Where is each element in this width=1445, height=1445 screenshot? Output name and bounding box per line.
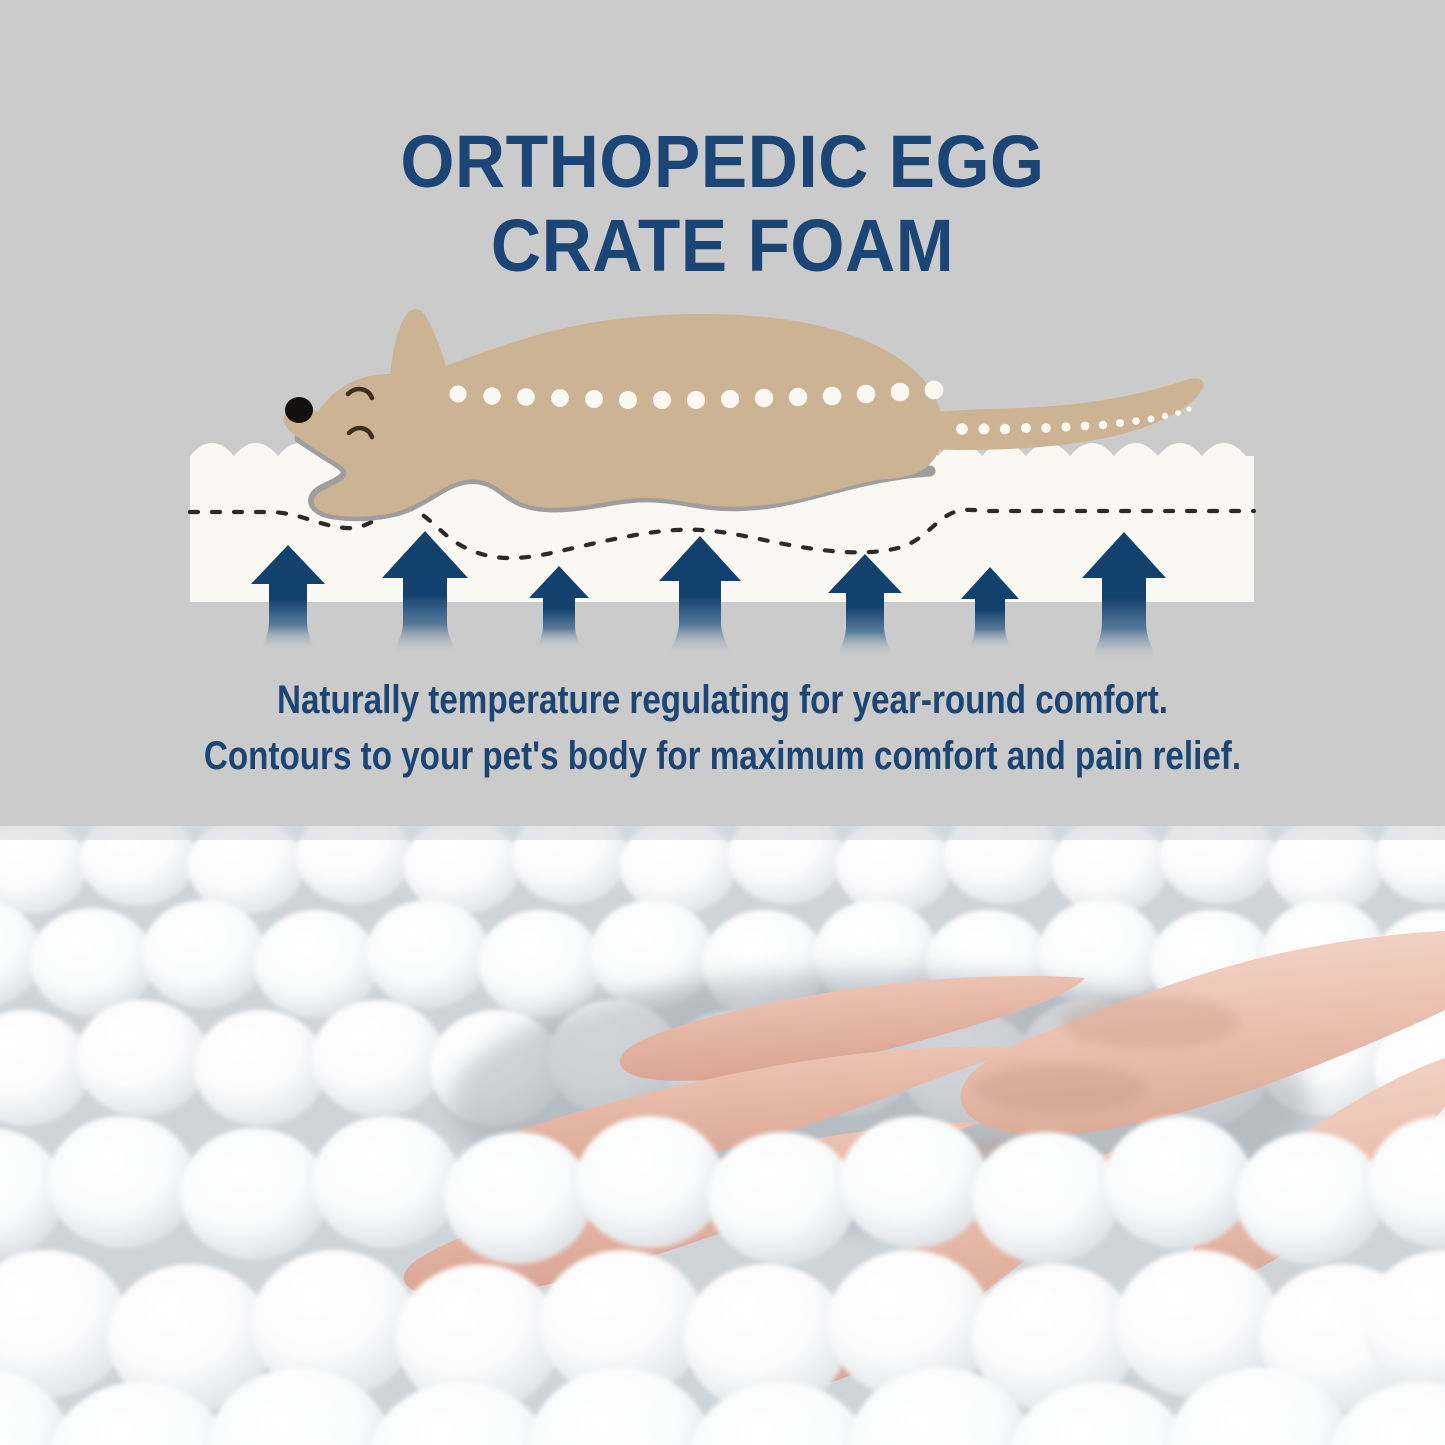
page-title: ORTHOPEDIC EGG CRATE FOAM: [43, 120, 1401, 288]
foam-texture-photo: [0, 826, 1445, 1445]
benefit-line-2: Contours to your pet's body for maximum …: [123, 728, 1322, 784]
benefit-copy: Naturally temperature regulating for yea…: [123, 672, 1322, 784]
foam-support-illustration: [0, 270, 1445, 660]
dog-body: [300, 309, 943, 517]
benefit-line-1: Naturally temperature regulating for yea…: [123, 672, 1322, 728]
photo-top-blend: [0, 826, 1445, 840]
product-infographic: ORTHOPEDIC EGG CRATE FOAM: [0, 0, 1445, 1445]
dog-tail: [903, 378, 1203, 450]
foam-photo-svg: [0, 826, 1445, 1445]
dog-nose-icon: [285, 397, 313, 423]
foam-peaks-front: [0, 1116, 1445, 1445]
top-information-panel: ORTHOPEDIC EGG CRATE FOAM: [0, 0, 1445, 826]
illustration-svg: [0, 270, 1445, 660]
